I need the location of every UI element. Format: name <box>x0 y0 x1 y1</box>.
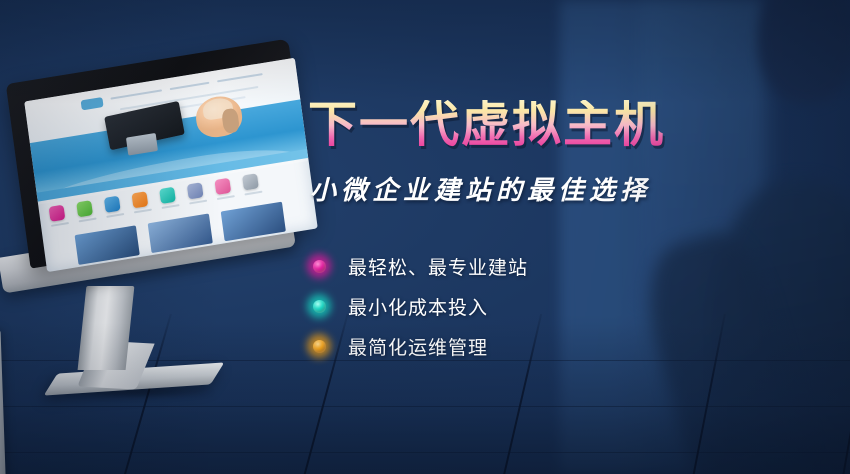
promo-banner: 下一代虚拟主机 小微企业建站的最佳选择 最轻松、最专业建站 最小化成本投入 最简… <box>0 0 850 474</box>
background-vignette <box>0 0 850 474</box>
